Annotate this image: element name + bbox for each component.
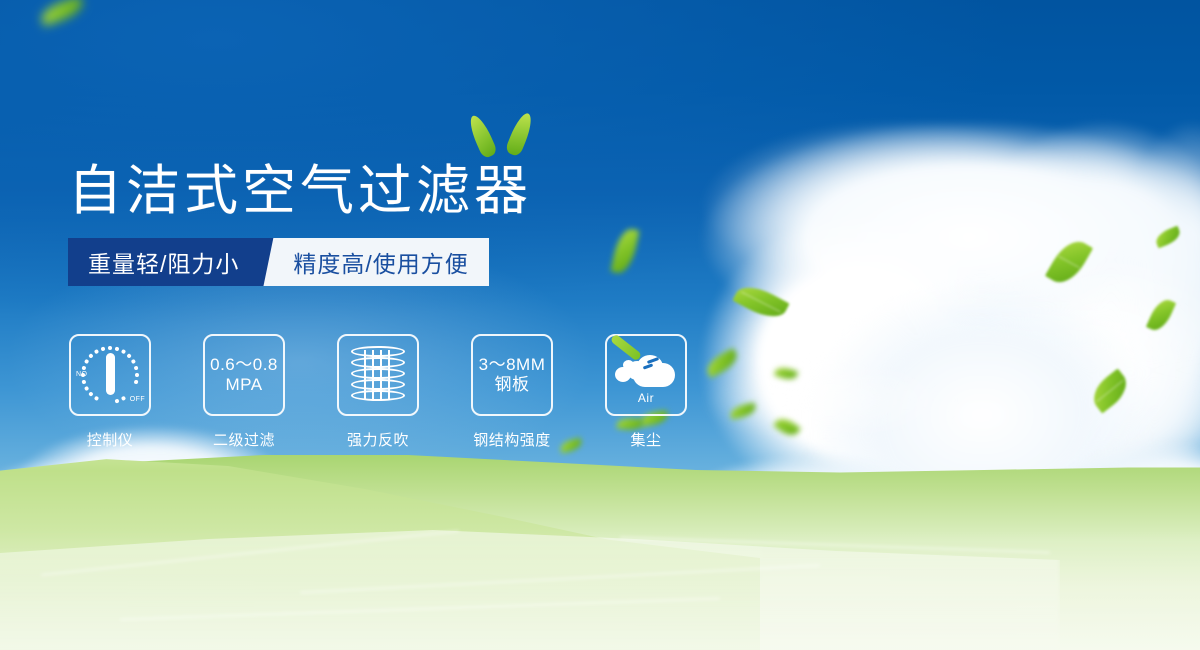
filter-stack-disc	[351, 379, 405, 390]
pressure-text-icon: 0.6～0.8 MPA	[210, 355, 278, 395]
feature-box	[337, 334, 419, 416]
feature-box: Air	[605, 334, 687, 416]
filter-stack-disc	[351, 346, 405, 357]
gauge-label-off: OFF	[130, 396, 145, 403]
feature-item-strong-backblow[interactable]: 强力反吹	[336, 334, 420, 450]
gauge-dot	[134, 366, 139, 371]
steel-thickness: 3～8MM	[479, 355, 546, 374]
gauge-dot	[135, 373, 139, 377]
gauge-dot	[115, 346, 120, 351]
gauge-dot	[108, 346, 112, 350]
feature-label: 二级过滤	[213, 429, 275, 450]
subtitle-divider	[261, 238, 287, 286]
steel-plate-label: 钢板	[479, 375, 546, 395]
gauge-dot	[81, 366, 86, 371]
pressure-unit: MPA	[210, 375, 278, 395]
feature-label: 强力反吹	[347, 429, 409, 450]
leaf-vein	[1097, 380, 1124, 402]
gauge-dot	[126, 353, 132, 359]
filter-stack-disc	[351, 357, 405, 368]
feature-box: 0.6～0.8 MPA	[203, 334, 285, 416]
feature-label: 控制仪	[87, 429, 134, 450]
subtitle-badge-bar: 重量轻/阻力小 精度高/使用方便	[68, 238, 489, 286]
cloud-body	[633, 363, 675, 387]
steel-plate-text-icon: 3～8MM 钢板	[479, 355, 546, 395]
filter-stack-disc	[351, 390, 405, 401]
gauge-dot	[131, 359, 136, 364]
feature-box: 3～8MM 钢板	[471, 334, 553, 416]
feature-item-steel-strength[interactable]: 3～8MM 钢板 钢结构强度	[470, 334, 554, 450]
air-swish	[610, 333, 642, 361]
gauge-dot	[94, 349, 99, 354]
product-banner: 自洁式空气过滤器 重量轻/阻力小 精度高/使用方便	[0, 0, 1200, 650]
feature-label: 钢结构强度	[473, 429, 551, 450]
gauge-dot	[84, 359, 89, 364]
gauge-icon: NO OFF	[77, 344, 143, 406]
gauge-dot	[88, 391, 94, 397]
gauge-dot	[115, 399, 120, 404]
feature-item-dust-collection[interactable]: Air 集尘	[604, 334, 688, 450]
feature-box: NO OFF	[69, 334, 151, 416]
cloud-wisp	[700, 360, 960, 440]
air-cloud-icon: Air	[615, 347, 677, 403]
gauge-dot	[81, 380, 86, 385]
gauge-dot	[101, 346, 106, 351]
subtitle-left: 重量轻/阻力小	[68, 238, 261, 286]
gauge-dot	[84, 386, 89, 391]
subtitle-right: 精度高/使用方便	[287, 238, 488, 286]
gauge-label-no: NO	[76, 371, 87, 378]
gauge-dot	[134, 380, 139, 385]
filter-stack-icon	[351, 346, 405, 404]
filter-stack-disc	[351, 368, 405, 379]
grass-sheen	[0, 530, 1200, 650]
pressure-value: 0.6～0.8	[210, 355, 278, 374]
feature-label: 集尘	[630, 429, 661, 450]
air-caption: Air	[615, 391, 677, 405]
feature-item-control-instrument[interactable]: NO OFF 控制仪	[68, 334, 152, 450]
leaf-vein	[1058, 256, 1079, 268]
gauge-dot	[121, 396, 126, 401]
feature-list: NO OFF 控制仪 0.6～0.8 MPA 二级过滤	[68, 334, 688, 450]
gauge-dot	[88, 353, 94, 359]
page-title: 自洁式空气过滤器	[68, 146, 532, 225]
feature-item-secondary-filtration[interactable]: 0.6～0.8 MPA 二级过滤	[202, 334, 286, 450]
gauge-dot	[121, 349, 126, 354]
gauge-dot	[94, 396, 99, 401]
gauge-needle	[106, 353, 115, 395]
